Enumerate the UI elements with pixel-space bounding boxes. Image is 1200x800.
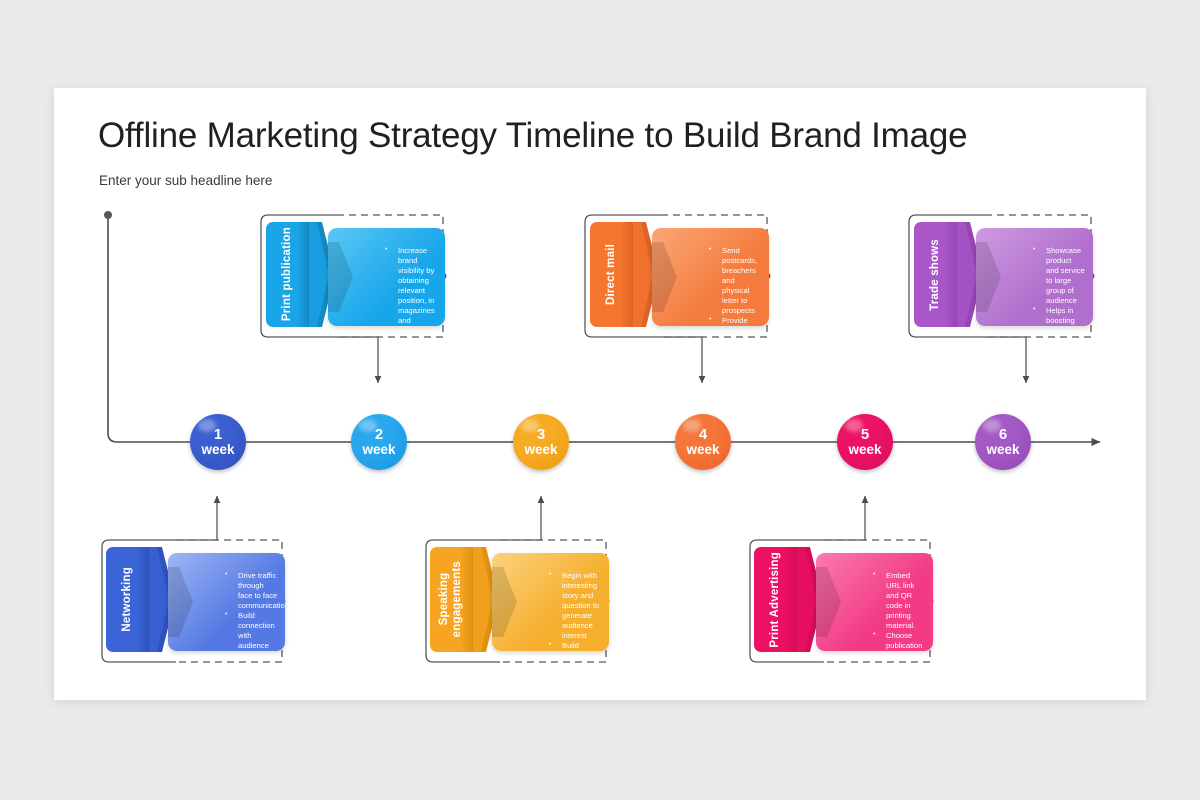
module-speaking-engagements[interactable]: Speaking engagementsBegin with interesti…	[430, 547, 620, 657]
timeline-node-6[interactable]: 6week	[975, 414, 1031, 470]
module-inner-wedge	[816, 567, 841, 637]
module-bullet-list: Embed URL link and QR code in printing m…	[846, 571, 926, 651]
module-bullet-item: Embed URL link and QR code in printing m…	[886, 571, 926, 631]
module-bullet-item: Provide personalized touch with brands	[722, 316, 762, 326]
module-bullet-item: Build credibility by establishing effect…	[562, 641, 602, 651]
module-trade-shows[interactable]: Trade showsShowcase product and service …	[914, 222, 1104, 332]
module-bullet-list: Begin with interesting story and questio…	[522, 571, 602, 651]
module-bullet-item: Showcase product and service to large gr…	[1046, 246, 1086, 306]
timeline-node-2[interactable]: 2week	[351, 414, 407, 470]
module-networking[interactable]: NetworkingDrive traffic through face to …	[106, 547, 296, 657]
timeline-node-number: 2	[375, 427, 383, 442]
module-tab-speaking-engagements[interactable]: Speaking engagements	[430, 547, 473, 652]
module-inner-wedge	[976, 242, 1001, 312]
timeline-node-number: 1	[214, 427, 222, 442]
timeline-node-3[interactable]: 3week	[513, 414, 569, 470]
module-bullet-list: Showcase product and service to large gr…	[1006, 246, 1086, 326]
module-card-networking[interactable]: Drive traffic through face to face commu…	[168, 553, 285, 651]
timeline-node-number: 6	[999, 427, 1007, 442]
module-tab-label: Trade shows	[929, 239, 942, 311]
module-tab-print-advertising[interactable]: Print Advertising	[754, 547, 797, 652]
timeline-node-number: 3	[537, 427, 545, 442]
slide-canvas: Offline Marketing Strategy Timeline to B…	[54, 88, 1146, 700]
module-card-direct-mail[interactable]: Send postcards, breachers and physical l…	[652, 228, 769, 326]
module-card-print-advertising[interactable]: Embed URL link and QR code in printing m…	[816, 553, 933, 651]
timeline-node-unit: week	[848, 443, 881, 457]
module-tab-trade-shows[interactable]: Trade shows	[914, 222, 957, 327]
module-bullet-item: Begin with interesting story and questio…	[562, 571, 602, 641]
timeline-node-unit: week	[686, 443, 719, 457]
page-title: Offline Marketing Strategy Timeline to B…	[98, 116, 967, 156]
module-card-speaking-engagements[interactable]: Begin with interesting story and questio…	[492, 553, 609, 651]
module-bullet-item: Send postcards, breachers and physical l…	[722, 246, 762, 316]
module-tab-networking[interactable]: Networking	[106, 547, 149, 652]
timeline-node-1[interactable]: 1week	[190, 414, 246, 470]
module-print-publication[interactable]: Print publicationIncrease brand visibili…	[266, 222, 456, 332]
module-bullet-item: Helps in boosting brand awareness	[1046, 306, 1086, 326]
module-tab-label: Speaking engagements	[438, 561, 464, 637]
module-print-advertising[interactable]: Print AdvertisingEmbed URL link and QR c…	[754, 547, 944, 657]
timeline-node-unit: week	[524, 443, 557, 457]
module-bullet-item: Build connection with audience by attend…	[238, 611, 278, 651]
module-tab-label: Print Advertising	[769, 552, 782, 648]
timeline-node-unit: week	[986, 443, 1019, 457]
module-bullet-list: Send postcards, breachers and physical l…	[682, 246, 762, 326]
timeline-node-number: 5	[861, 427, 869, 442]
page-subtitle: Enter your sub headline here	[99, 173, 272, 188]
module-tab-label: Networking	[121, 567, 134, 632]
module-bullet-item: Choose publication that match with audie…	[886, 631, 926, 651]
module-tab-label: Direct mail	[605, 244, 618, 305]
module-tab-print-publication[interactable]: Print publication	[266, 222, 309, 327]
module-inner-wedge	[168, 567, 193, 637]
timeline-node-unit: week	[201, 443, 234, 457]
module-card-print-publication[interactable]: Increase brand visibility by obtaining r…	[328, 228, 445, 326]
module-inner-wedge	[328, 242, 353, 312]
timeline-node-number: 4	[699, 427, 707, 442]
module-tab-direct-mail[interactable]: Direct mail	[590, 222, 633, 327]
module-card-trade-shows[interactable]: Showcase product and service to large gr…	[976, 228, 1093, 326]
module-inner-wedge	[652, 242, 677, 312]
timeline-node-4[interactable]: 4week	[675, 414, 731, 470]
module-tab-label: Print publication	[281, 227, 294, 321]
timeline-start-dot	[104, 211, 112, 219]
timeline-node-5[interactable]: 5week	[837, 414, 893, 470]
module-bullet-list: Drive traffic through face to face commu…	[198, 571, 278, 651]
module-direct-mail[interactable]: Direct mailSend postcards, breachers and…	[590, 222, 780, 332]
module-inner-wedge	[492, 567, 517, 637]
module-bullet-item: Drive traffic through face to face commu…	[238, 571, 278, 611]
module-bullet-list: Increase brand visibility by obtaining r…	[358, 246, 438, 326]
timeline-node-unit: week	[362, 443, 395, 457]
module-bullet-item: Increase brand visibility by obtaining r…	[398, 246, 438, 326]
